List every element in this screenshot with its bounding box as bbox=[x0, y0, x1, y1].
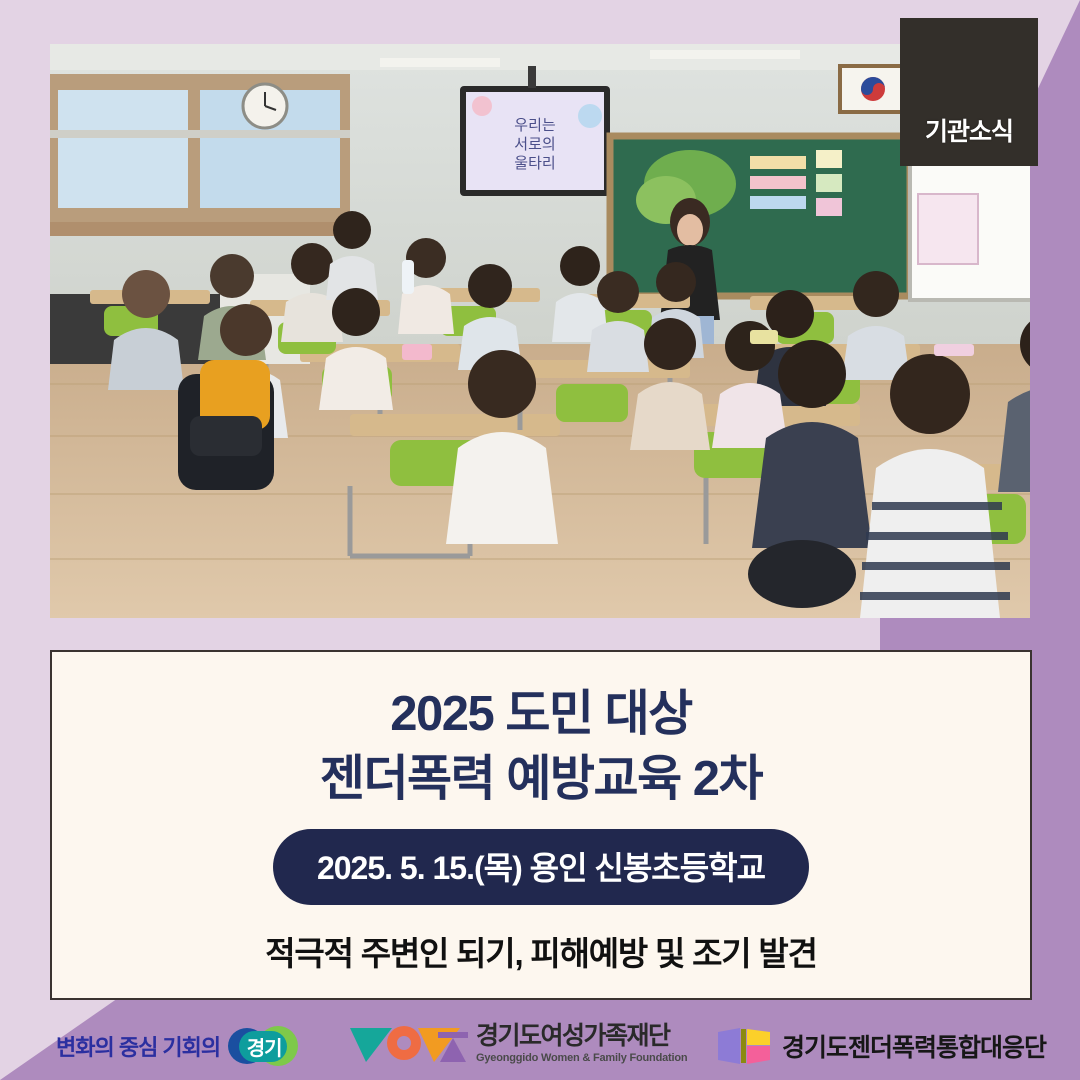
logo-gyeonggi-province: 변화의 중심 기회의 경기 bbox=[56, 1026, 300, 1066]
foundation-name-ko: 경기도여성가족재단 bbox=[476, 1024, 687, 1049]
classroom-photo: 우리는 서로의 울타리 bbox=[50, 44, 1030, 618]
foundation-name-en: Gyeonggido Women & Family Foundation bbox=[476, 1053, 687, 1064]
classroom-photo-illustration: 우리는 서로의 울타리 bbox=[50, 44, 1030, 618]
gyeonggi-mark-label: 경기 bbox=[228, 1026, 300, 1066]
response-unit-name-ko: 경기도젠더폭력통합대응단 bbox=[782, 1028, 1046, 1064]
logo-women-family-foundation: 경기도여성가족재단 Gyeonggido Women & Family Foun… bbox=[348, 1022, 687, 1066]
foundation-mark-icon bbox=[348, 1022, 468, 1066]
event-date-location-pill: 2025. 5. 15.(목) 용인 신봉초등학교 bbox=[273, 829, 809, 905]
category-badge: 기관소식 bbox=[900, 18, 1038, 166]
category-badge-label: 기관소식 bbox=[925, 112, 1013, 148]
event-subtitle: 적극적 주변인 되기, 피해예방 및 조기 발견 bbox=[265, 927, 817, 975]
page-title: 2025 도민 대상 젠더폭력 예방교육 2차 bbox=[320, 682, 762, 811]
svg-text:울타리: 울타리 bbox=[514, 155, 555, 172]
title-line-2: 젠더폭력 예방교육 2차 bbox=[320, 747, 762, 812]
logo-gender-violence-response-unit: 경기도젠더폭력통합대응단 bbox=[716, 1026, 1046, 1066]
gyeonggi-slogan: 변화의 중심 기회의 bbox=[56, 1030, 220, 1062]
title-line-1: 2025 도민 대상 bbox=[390, 687, 692, 741]
svg-text:서로의: 서로의 bbox=[514, 136, 555, 153]
info-card: 2025 도민 대상 젠더폭력 예방교육 2차 2025. 5. 15.(목) … bbox=[50, 650, 1032, 1000]
response-unit-mark-icon bbox=[716, 1026, 774, 1066]
footer-logos: 변화의 중심 기회의 경기 경기도여성가족재단 Gyeonggido Women… bbox=[0, 1000, 1080, 1080]
gyeonggi-mark-icon: 경기 bbox=[228, 1026, 300, 1066]
promo-card: 우리는 서로의 울타리 bbox=[0, 0, 1080, 1080]
svg-text:우리는: 우리는 bbox=[514, 117, 556, 134]
